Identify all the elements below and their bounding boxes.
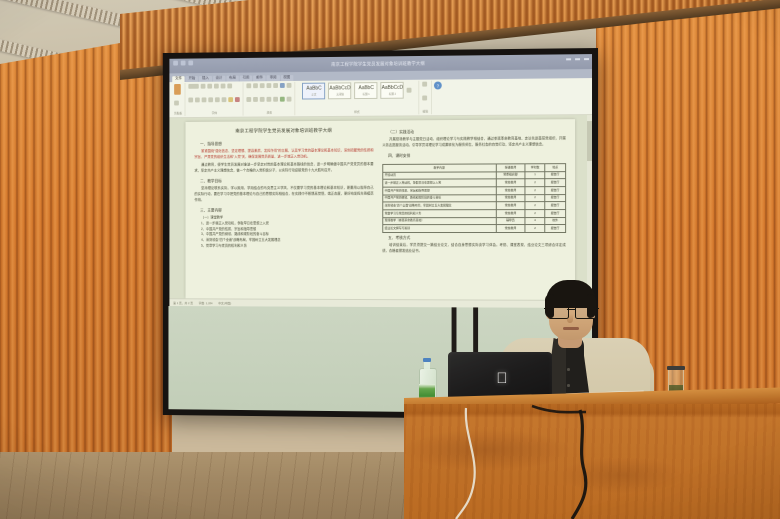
- table-cell: 党校教师: [496, 210, 525, 218]
- table-cell: 党校教师: [496, 202, 525, 210]
- document-title: 南京工程学院学生党员发展对象培训班教学大纲: [194, 128, 373, 135]
- styles-more-icon[interactable]: [407, 88, 412, 93]
- superscript-icon[interactable]: [222, 97, 227, 102]
- show-marks-icon[interactable]: [287, 83, 292, 88]
- align-right-icon[interactable]: [260, 97, 265, 102]
- restore-icon[interactable]: [575, 58, 580, 60]
- ribbon-group-label: 剪贴板: [174, 111, 182, 115]
- table-cell: 报告厅: [545, 209, 565, 217]
- ribbon-group-clipboard[interactable]: 剪贴板: [171, 83, 186, 116]
- window-controls[interactable]: [566, 58, 589, 60]
- white-cable: [456, 408, 475, 519]
- borders-icon[interactable]: [287, 97, 292, 102]
- document-page[interactable]: 南京工程学院学生党员发展对象培训班教学大纲 一、指导思想 紧紧围绕“强化信念、坚…: [186, 119, 575, 300]
- document-column-right: （二）实践活动 开展现场教学与主题党日活动，组织理论学习与实践教学相结合，通过参…: [382, 126, 565, 300]
- paragraph: 通过教育，使学生党员发展对象进一步坚定对党的基本理论和基本路线的信念，进一步明确…: [194, 162, 373, 174]
- ribbon-group-editing[interactable]: 编辑: [420, 81, 432, 115]
- style-preview: AaBbC: [306, 86, 321, 91]
- change-case-icon[interactable]: [221, 84, 226, 89]
- font-color-icon[interactable]: [235, 97, 240, 102]
- table-header-cell: 授课教师: [496, 164, 525, 172]
- style-normal[interactable]: AaBbC 正文: [302, 83, 325, 100]
- page-indicator[interactable]: 第 1 页，共 2 页: [173, 301, 193, 305]
- table-cell: 报告厅: [545, 202, 565, 210]
- replace-icon[interactable]: [423, 95, 428, 100]
- mouth: [563, 327, 579, 330]
- table-cell: 党校教师: [496, 187, 525, 195]
- table-cell: 2: [525, 210, 545, 218]
- shading-icon[interactable]: [280, 97, 285, 102]
- multilevel-list-icon[interactable]: [260, 83, 265, 88]
- course-schedule-table: 教学内容 授课教师 学时数 地点 开班动员 党委组织部: [382, 163, 565, 233]
- justify-icon[interactable]: [267, 97, 272, 102]
- paragraph: 坚持理论联系实际，学以致用，学用结合的马克思主义学风，不仅要学习党的基本理论和基…: [194, 185, 373, 203]
- table-cell: 1: [525, 171, 545, 179]
- ribbon-group-label: 段落: [247, 110, 292, 114]
- grow-font-icon[interactable]: [208, 84, 213, 89]
- section-heading: 四、课时安排: [388, 153, 566, 159]
- style-preview: AaBbCcD: [382, 85, 403, 90]
- paragraph: 开展现场教学与主题党日活动，组织理论学习与实践教学相结合，通过参观革命教育基地、…: [382, 136, 565, 149]
- table-cell: 校外: [545, 217, 565, 225]
- bottle-cap: [423, 358, 431, 362]
- table-cell: 2: [525, 225, 545, 233]
- italic-icon[interactable]: [195, 97, 200, 102]
- align-center-icon[interactable]: [253, 97, 258, 102]
- style-preview: AaBbC: [358, 86, 373, 91]
- ribbon-group-label: 字体: [189, 111, 240, 115]
- section-heading: 二、教学目标: [200, 179, 373, 184]
- hair-side-left: [545, 294, 554, 318]
- table-cell: 报告厅: [545, 187, 565, 195]
- table-cell: 党校教师: [496, 179, 525, 187]
- save-icon[interactable]: [173, 61, 178, 66]
- ribbon-group-font[interactable]: 字体: [186, 82, 244, 116]
- ribbon-group-paragraph[interactable]: 段落: [244, 82, 296, 116]
- document-column-left: 南京工程学院学生党员发展对象培训班教学大纲 一、指导思想 紧紧围绕“强化信念、坚…: [194, 128, 373, 300]
- section-heading: 一、指导思想: [200, 141, 373, 147]
- table-cell: 党校教师: [496, 225, 525, 233]
- section-heading: 五、考核方式: [388, 236, 566, 241]
- section-heading: 三、主要内容: [200, 208, 373, 213]
- scrollbar-thumb[interactable]: [587, 121, 592, 161]
- table-cell: 报告厅: [545, 171, 565, 179]
- line-spacing-icon[interactable]: [274, 97, 279, 102]
- apple-logo-icon: : [495, 371, 509, 387]
- shrink-font-icon[interactable]: [214, 84, 219, 89]
- find-icon[interactable]: [423, 82, 428, 87]
- text-highlight-icon[interactable]: [229, 97, 234, 102]
- subscript-icon[interactable]: [215, 97, 220, 102]
- style-name: 正文: [311, 92, 316, 96]
- table-cell: 4: [525, 217, 545, 225]
- bold-icon[interactable]: [189, 98, 194, 103]
- table-header-cell: 学时数: [525, 164, 545, 172]
- table-cell: 2: [525, 194, 545, 202]
- paste-icon[interactable]: [174, 84, 181, 95]
- table-cell: 2: [525, 202, 545, 210]
- font-family-selector[interactable]: [189, 84, 199, 89]
- hair-side-right: [587, 294, 596, 318]
- align-left-icon[interactable]: [247, 97, 252, 102]
- quick-access-toolbar[interactable]: [173, 60, 193, 65]
- table-cell: 报告厅: [545, 179, 565, 187]
- ribbon-group-label: 样式: [299, 109, 416, 114]
- style-name: 标题 2: [389, 91, 396, 95]
- underline-icon[interactable]: [202, 97, 207, 102]
- table-header-cell: 地点: [545, 164, 565, 172]
- table-cell: 结业论文撰写与答辩: [383, 225, 496, 233]
- table-cell: 党委组织部: [496, 171, 525, 179]
- style-heading-1[interactable]: AaBbC 标题 1: [355, 82, 378, 99]
- table-row: 结业论文撰写与答辩 党校教师 2 报告厅: [383, 225, 565, 233]
- decrease-indent-icon[interactable]: [267, 83, 272, 88]
- style-preview: AaBbCcD: [329, 86, 350, 91]
- help-icon[interactable]: ?: [434, 81, 442, 89]
- clear-formatting-icon[interactable]: [228, 83, 233, 88]
- numbering-icon[interactable]: [253, 83, 258, 88]
- paragraph: 培训结束后，学员须提交一篇结业论文，结合自身思想实际谈学习体会。考勤、课堂表现、…: [382, 243, 565, 255]
- sort-icon[interactable]: [280, 83, 285, 88]
- projection-screen-surface: 南京工程学院学生党员发展对象培训班教学大纲 文件 开始 插入 设计 布局 引用 …: [169, 54, 592, 308]
- ribbon-group-styles[interactable]: AaBbC 正文 AaBbCcD 无间隔 AaBbC 标题 1: [296, 81, 420, 116]
- ribbon-toolbar[interactable]: 剪贴板: [169, 78, 592, 118]
- style-heading-2[interactable]: AaBbCcD 标题 2: [381, 82, 404, 99]
- table-row: 党章学习与党员的权利和义务 党校教师 2 报告厅: [383, 209, 565, 217]
- word-application-window[interactable]: 南京工程学院学生党员发展对象培训班教学大纲 文件 开始 插入 设计 布局 引用 …: [169, 54, 592, 308]
- black-cable: [572, 410, 586, 519]
- format-painter-icon[interactable]: [174, 101, 179, 106]
- window-title: 南京工程学院学生党员发展对象培训班教学大纲: [331, 60, 425, 67]
- document-canvas[interactable]: 南京工程学院学生党员发展对象培训班教学大纲 一、指导思想 紧紧围绕“强化信念、坚…: [169, 115, 592, 300]
- list-item: 5、党章学习与党员的权利和义务: [201, 244, 373, 250]
- paragraph-highlighted: 紧紧围绕“强化信念、坚定理想、提高素质、发挥作用”的主题，认真学习党的基本理论和…: [194, 148, 373, 161]
- minimize-icon[interactable]: [566, 58, 571, 60]
- table-cell: 现场教学（参观革命教育基地）: [383, 217, 496, 225]
- redo-icon[interactable]: [188, 60, 193, 65]
- ribbon-group-label: 编辑: [423, 109, 428, 113]
- glasses-bridge: [567, 309, 575, 310]
- table-cell: 深刻领会“四个全面”战略布局，牢固树立五大发展理念: [383, 202, 496, 210]
- table-cell: 报告厅: [545, 194, 565, 202]
- undo-icon[interactable]: [181, 61, 186, 66]
- glass-lid: [667, 366, 685, 370]
- style-name: 标题 1: [363, 92, 370, 96]
- language-indicator[interactable]: 中文(中国): [218, 301, 231, 305]
- cables: [404, 404, 780, 519]
- style-no-spacing[interactable]: AaBbCcD 无间隔: [328, 82, 351, 99]
- subheading: （二）实践活动: [388, 129, 566, 135]
- wood-slat-wall-left: [0, 34, 172, 454]
- font-size-selector[interactable]: [201, 84, 206, 89]
- lecture-hall-photo: 南京工程学院学生党员发展对象培训班教学大纲 文件 开始 插入 设计 布局 引用 …: [0, 0, 780, 519]
- black-cable-lead: [532, 406, 586, 412]
- word-count[interactable]: 字数: 1,284: [199, 301, 213, 305]
- table-cell: 党校教师: [496, 194, 525, 202]
- strikethrough-icon[interactable]: [209, 97, 214, 102]
- table-cell: 2: [525, 179, 545, 187]
- table-cell: 辅导员: [496, 217, 525, 225]
- table-row: 现场教学（参观革命教育基地） 辅导员 4 校外: [383, 217, 565, 225]
- vertical-scrollbar[interactable]: [587, 115, 592, 293]
- table-cell: 党章学习与党员的权利和义务: [383, 210, 496, 218]
- table-cell: 2: [525, 187, 545, 195]
- close-icon[interactable]: [584, 58, 589, 60]
- increase-indent-icon[interactable]: [274, 83, 279, 88]
- bullets-icon[interactable]: [247, 83, 252, 88]
- table-cell: 报告厅: [545, 225, 565, 233]
- style-name: 无间隔: [336, 92, 344, 96]
